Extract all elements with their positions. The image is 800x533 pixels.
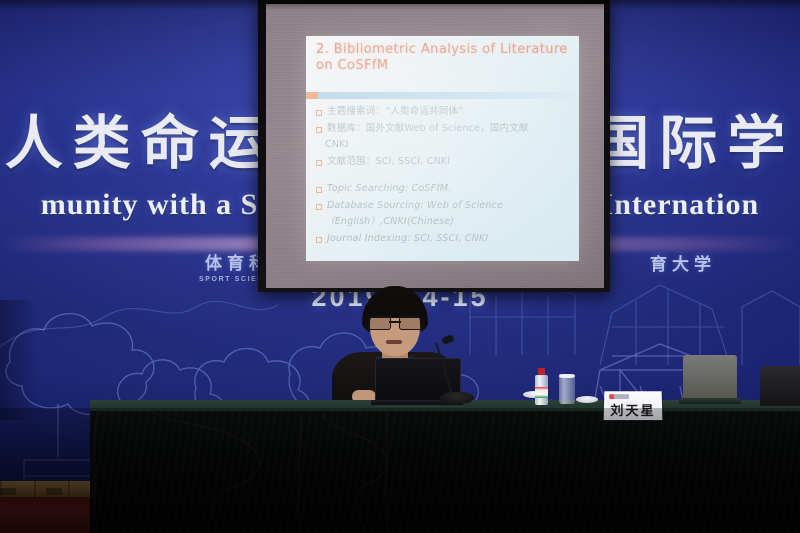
slide-title-rule (306, 92, 579, 99)
slide-bullet-cn-2-cont: CNKI (316, 139, 566, 152)
second-laptop[interactable] (683, 355, 741, 405)
bottle-cap (538, 368, 545, 375)
conference-photo-scene: 人类命运 国际学 munity with a S d Internation 2… (0, 0, 800, 533)
gooseneck-microphone[interactable] (452, 340, 522, 406)
microphone-base (440, 392, 474, 404)
sponsor-logo-right-cn: 育大学 (618, 250, 748, 275)
bullet-square-icon (316, 110, 322, 116)
table-cables (90, 405, 800, 533)
speaker-mouth (386, 340, 402, 344)
bullet-square-icon (316, 127, 322, 133)
bottle-label (535, 387, 548, 398)
bullet-text: CNKI (325, 139, 349, 152)
projected-slide: 2. Bibliometric Analysis of Literature o… (306, 36, 579, 261)
saucer-right (576, 396, 598, 403)
slide-bullet-en-3: Journal Indexing: SCI, SSCI, CNKI (316, 233, 566, 246)
slide-bullet-cn-1: 主题搜索词：“人类命运共同体” (316, 106, 566, 119)
glasses-lens-left (368, 316, 391, 330)
glasses-icon (368, 316, 422, 328)
slide-bullet-en-1: Topic Searching: CoSFfM. (316, 183, 566, 196)
glasses-lens-right (399, 316, 422, 330)
slide-bullet-gap (316, 172, 566, 183)
slide-title: 2. Bibliometric Analysis of Literature o… (316, 42, 571, 74)
bullet-text: 文献范围：SCI, SSCI, CNKI (327, 156, 450, 169)
bullet-text: Topic Searching: CoSFfM. (327, 183, 451, 196)
sponsor-logo-right: 育大学 (618, 250, 748, 275)
bullet-text: （English）,CNKI(Chinese) (325, 216, 454, 229)
slide-bullet-en-2: Database Sourcing: Web of Science (316, 200, 566, 213)
second-laptop-keyboard[interactable] (679, 398, 741, 404)
bullet-text: 数据库：国外文献Web of Science，国内文献 (327, 123, 529, 136)
drinking-glass[interactable] (559, 374, 575, 404)
chair-right (760, 366, 800, 406)
glass-rim (559, 374, 575, 378)
bullet-square-icon (316, 160, 322, 166)
bullet-text: Database Sourcing: Web of Science (327, 200, 503, 213)
placard-logo-icon (609, 394, 629, 399)
slide-bullet-cn-2: 数据库：国外文献Web of Science，国内文献 (316, 123, 566, 136)
slide-bullet-list: 主题搜索词：“人类命运共同体” 数据库：国外文献Web of Science，国… (316, 106, 566, 249)
bullet-text: Journal Indexing: SCI, SSCI, CNKI (327, 233, 488, 246)
slide-bullet-cn-3: 文献范围：SCI, SSCI, CNKI (316, 156, 566, 169)
bullet-square-icon (316, 237, 322, 243)
slide-bullet-en-2-cont: （English）,CNKI(Chinese) (316, 216, 566, 229)
water-bottle[interactable] (535, 368, 548, 405)
bullet-square-icon (316, 187, 322, 193)
bullet-square-icon (316, 204, 322, 210)
second-laptop-screen (683, 355, 737, 399)
bullet-text: 主题搜索词：“人类命运共同体” (327, 106, 463, 119)
